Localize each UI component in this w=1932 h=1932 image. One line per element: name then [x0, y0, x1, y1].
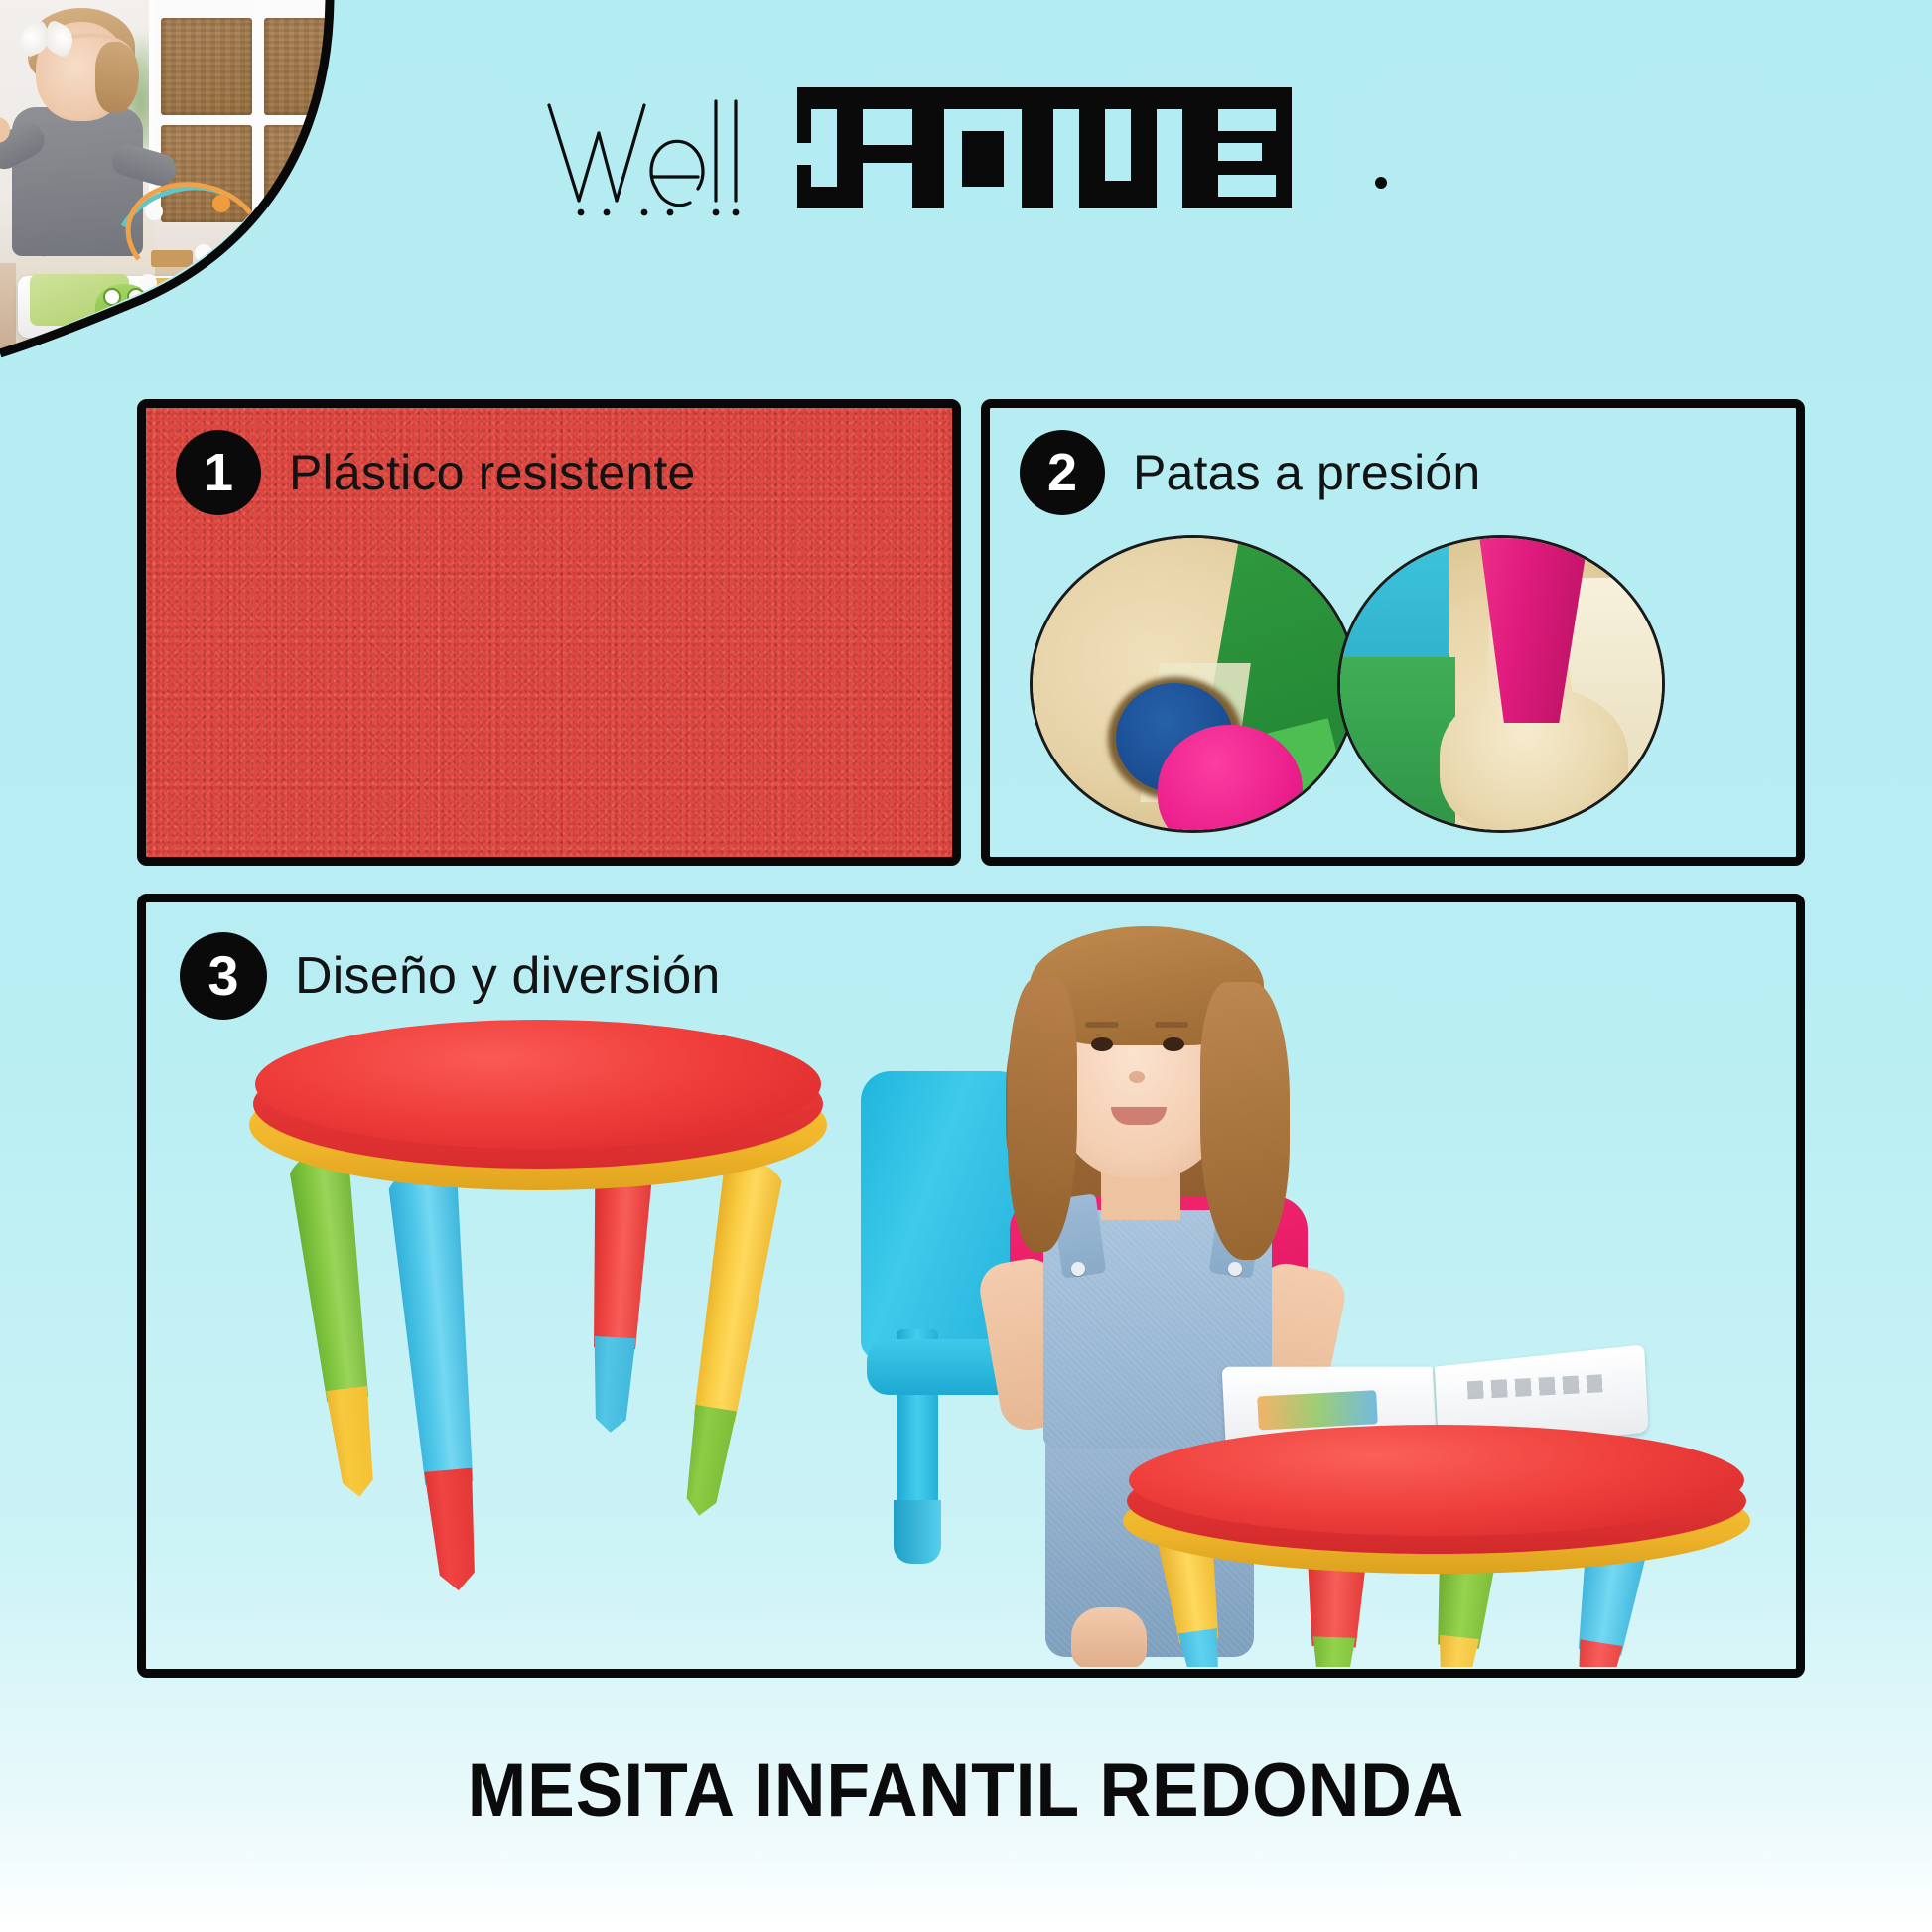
- infographic-canvas: 1 Plástico resistente 2 Patas a presión: [0, 0, 1932, 1932]
- feature-panel-3: 3 Diseño y diversión: [137, 894, 1805, 1678]
- girl-bare-foot: [1071, 1607, 1147, 1667]
- girl-at-table-photo: [831, 912, 1804, 1667]
- table-leg-blue: [382, 1166, 497, 1587]
- corner-lifestyle-photo: [0, 0, 328, 352]
- feature-1-header: 1 Plástico resistente: [176, 430, 696, 515]
- toy-bead: [145, 203, 163, 220]
- feature-2-label: Patas a presión: [1133, 444, 1480, 501]
- feature-3-badge: 3: [180, 932, 267, 1020]
- girl-nose: [1129, 1071, 1145, 1083]
- feature-panel-2: 2 Patas a presión: [981, 399, 1805, 866]
- shelf-divider-vertical: [255, 0, 264, 228]
- overall-button: [1071, 1262, 1085, 1276]
- logo-well-wordmark: [541, 85, 799, 216]
- feature-1-badge: 1: [176, 430, 261, 515]
- feature-2-header: 2 Patas a presión: [1020, 430, 1480, 515]
- child-hair-bow: [20, 20, 79, 62]
- feature-3-header: 3 Diseño y diversión: [180, 932, 720, 1020]
- toy-bead: [195, 244, 212, 262]
- toy-bead: [212, 195, 230, 212]
- girl-eyebrow-right: [1155, 1022, 1188, 1028]
- girl-eyebrow-left: [1085, 1022, 1119, 1028]
- girl-eye-right: [1163, 1037, 1184, 1051]
- feature-panel-1: 1 Plástico resistente: [137, 399, 961, 866]
- wicker-basket: [264, 125, 328, 222]
- overall-button: [1228, 1262, 1242, 1276]
- green-leg-part: [1337, 657, 1455, 833]
- toy-bead: [139, 274, 157, 292]
- round-table-product-render: [225, 1012, 861, 1637]
- photo-table-top-red: [1129, 1425, 1744, 1536]
- logo-home-wordmark: [797, 87, 1333, 208]
- leg-insertion-closeup-photo: [1337, 535, 1665, 833]
- wicker-basket: [264, 18, 328, 115]
- feature-2-badge: 2: [1020, 430, 1105, 515]
- girl-eye-left: [1091, 1037, 1113, 1051]
- table-leg-green: [283, 1150, 392, 1483]
- girl-hair-right: [1200, 982, 1290, 1260]
- table-leg-red: [576, 1161, 659, 1422]
- feature-1-label: Plástico resistente: [289, 444, 696, 501]
- girl-hair-left: [1008, 978, 1077, 1252]
- shelf-divider-horizontal: [149, 116, 328, 125]
- table-leg-yellow: [665, 1158, 790, 1512]
- toy-bead: [234, 246, 252, 264]
- logo-period-dot: [1375, 177, 1387, 189]
- feature-3-label: Diseño y diversión: [295, 946, 720, 1006]
- stacking-rings-toy: [151, 250, 193, 336]
- leg-socket-closeup-photo: [1030, 535, 1357, 833]
- table-top-red: [255, 1020, 821, 1149]
- brand-logo: [541, 77, 1256, 216]
- product-title: MESITA INFANTIL REDONDA: [58, 1747, 1873, 1834]
- wicker-basket: [161, 18, 252, 115]
